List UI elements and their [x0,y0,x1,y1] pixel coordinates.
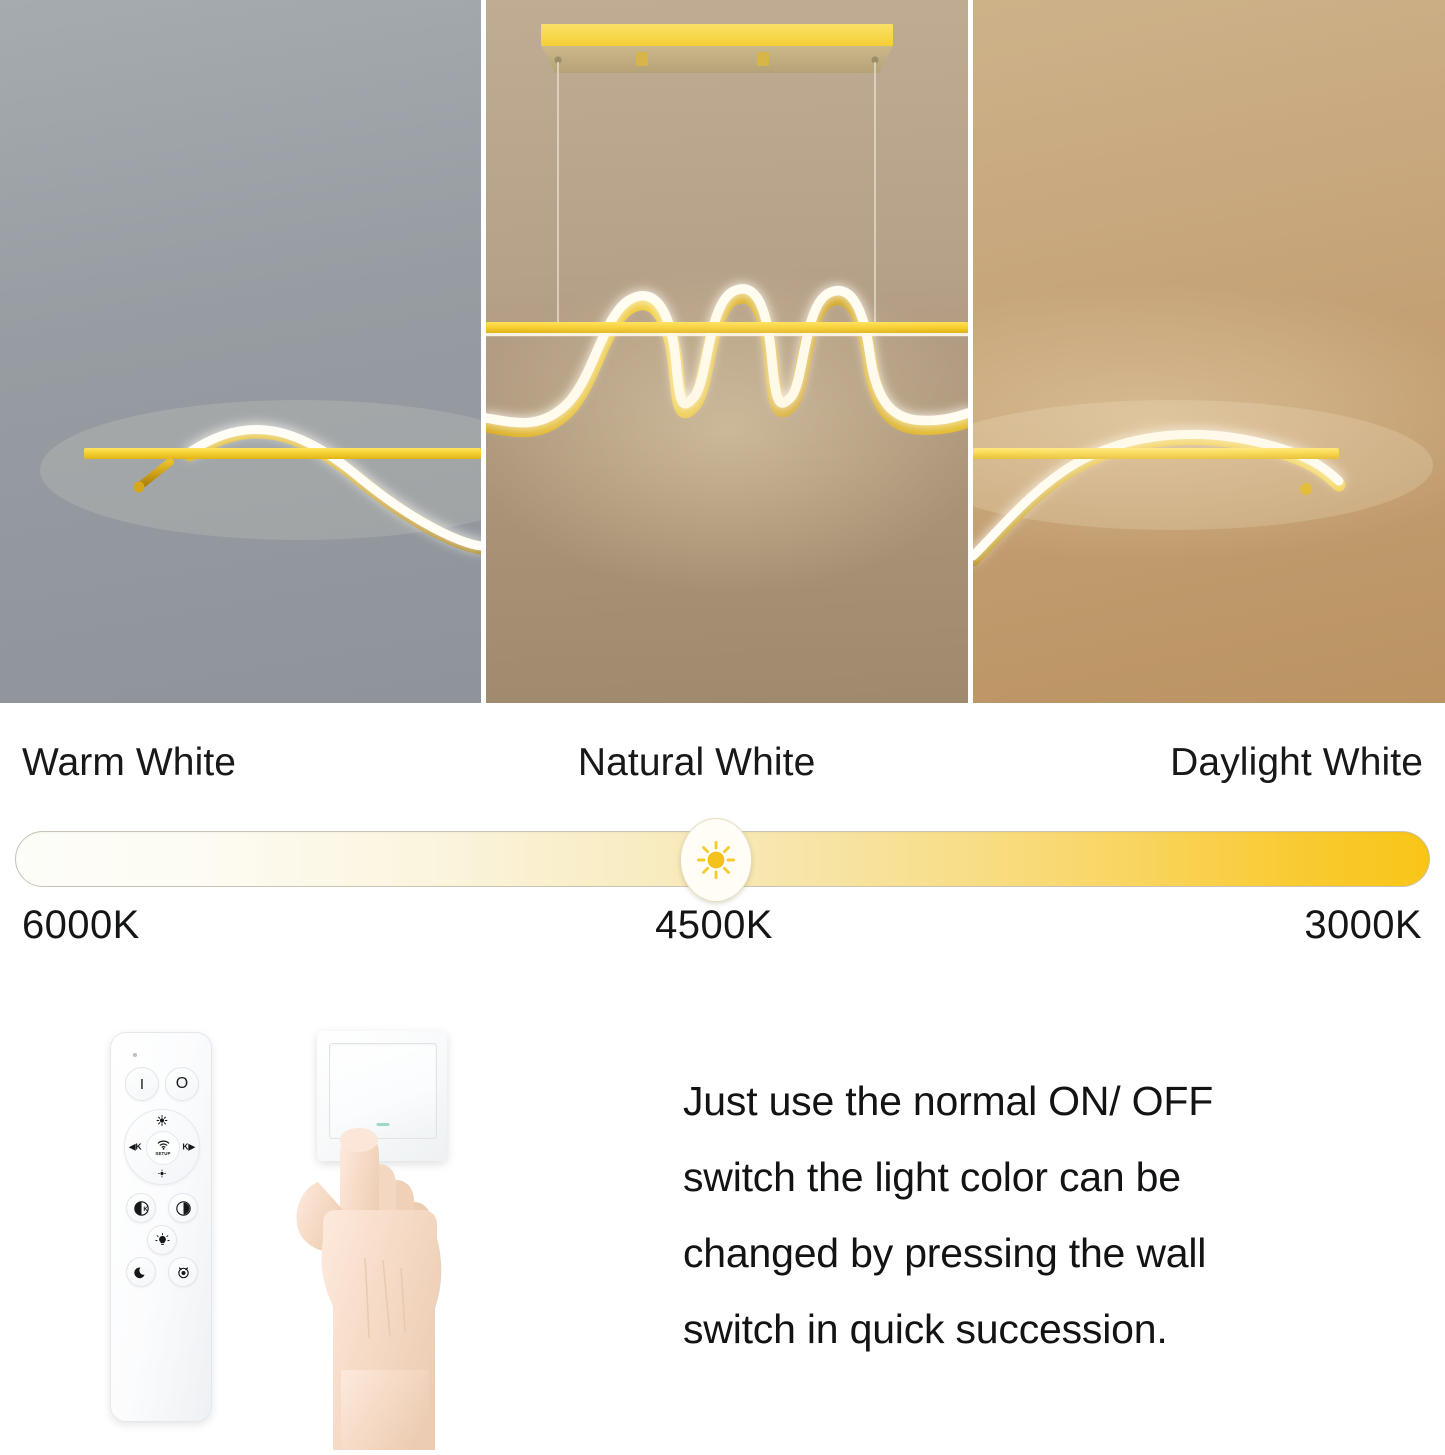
color-temp-decrease-button[interactable]: ◀K [129,1142,142,1153]
remote-control[interactable]: I O ◀K K▶ [110,1032,212,1422]
cct-label-daylight-white: Daylight White [1170,741,1423,785]
product-photo-strip [0,0,1445,703]
cct-kelvin-row: 6000K 4500K 3000K [22,903,1422,948]
instruction-text: Just use the normal ON/ OFF switch the l… [683,1063,1363,1367]
remote-ir-led-icon [133,1053,137,1057]
color-temp-k-icon: K [134,1201,149,1216]
remote-dpad[interactable]: ◀K K▶ SETUP [124,1109,200,1185]
remote-setup-button[interactable]: SETUP [146,1131,180,1165]
cct-label-natural-white: Natural White [578,741,816,785]
brightness-up-icon[interactable] [157,1115,168,1128]
cct-label-row: Warm White Natural White Daylight White [22,741,1422,785]
cct-kelvin-3000k: 3000K [1304,903,1422,948]
natural-white-lamp-illustration [486,0,968,703]
remote-night-mode-button[interactable] [126,1257,156,1287]
lamp-icon [155,1233,170,1248]
instruction-line-3: changed by pressing the wall [683,1215,1363,1291]
cct-label-warm-white: Warm White [22,741,236,785]
remote-power-on-label: I [140,1077,144,1092]
daylight-white-photo [973,0,1445,703]
wifi-icon [157,1140,170,1150]
hand-illustration [283,1120,498,1450]
natural-white-photo [486,0,968,703]
remote-lamp-button[interactable] [147,1225,177,1255]
cct-slider-knob[interactable] [680,818,752,902]
remote-power-off-button[interactable]: O [165,1067,199,1101]
remote-power-on-button[interactable]: I [125,1067,159,1101]
daylight-white-lamp-illustration [973,0,1445,703]
warm-white-photo [0,0,481,703]
remote-color-temp-button[interactable]: K [126,1193,156,1223]
color-temperature-section: Warm White Natural White Daylight White … [0,703,1445,993]
brightness-half-icon [176,1201,191,1216]
warm-white-lamp-illustration [0,0,481,703]
instruction-line-1: Just use the normal ON/ OFF [683,1063,1363,1139]
color-temp-increase-button[interactable]: K▶ [182,1142,195,1153]
remote-timer-button[interactable] [168,1257,198,1287]
remote-setup-label: SETUP [155,1151,170,1156]
instruction-line-4: switch in quick succession. [683,1291,1363,1367]
remote-brightness-button[interactable] [168,1193,198,1223]
brightness-down-icon[interactable] [158,1169,167,1180]
timer-alarm-icon [176,1265,191,1280]
svg-text:K: K [143,1206,148,1213]
hand-pressing-switch [283,1120,498,1455]
cct-kelvin-4500k: 4500K [655,903,773,948]
instruction-line-2: switch the light color can be [683,1139,1363,1215]
cct-kelvin-6000k: 6000K [22,903,140,948]
sun-icon [695,839,737,881]
night-mode-moon-icon [134,1265,149,1280]
remote-power-off-label: O [176,1076,188,1092]
